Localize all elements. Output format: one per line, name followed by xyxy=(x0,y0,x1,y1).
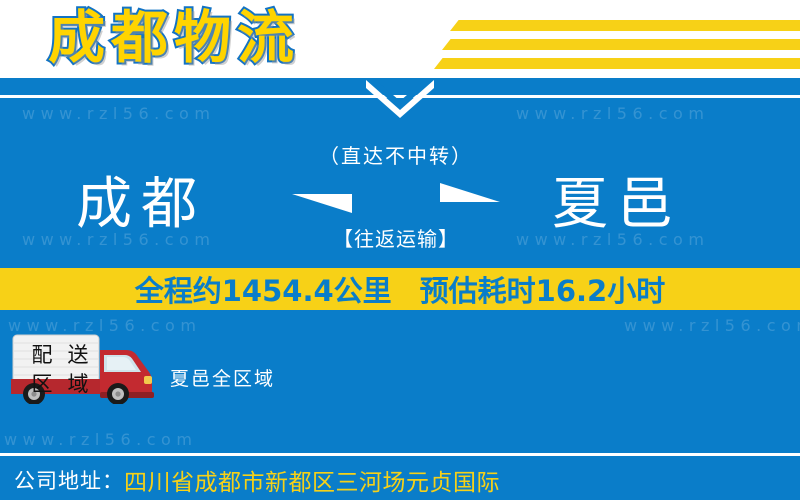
origin-city: 成都 xyxy=(76,173,206,237)
watermark: www.rzl56.com xyxy=(22,104,215,123)
chevron-down-icon xyxy=(364,80,436,126)
direct-service-label: （直达不中转） xyxy=(296,140,496,169)
delivery-truck-icon xyxy=(8,332,156,404)
page-title: 成都物流 xyxy=(48,2,300,74)
watermark: www.rzl56.com xyxy=(4,430,197,449)
decorative-stripe-3 xyxy=(434,58,800,69)
destination-city: 夏邑 xyxy=(552,173,682,237)
decorative-stripe-1 xyxy=(450,20,800,31)
address-label: 公司地址： xyxy=(14,465,124,495)
coverage-area-label: 夏邑全区域 xyxy=(170,364,275,391)
roundtrip-service-label: 【往返运输】 xyxy=(296,223,496,252)
distance-text: 全程约1454.4公里 xyxy=(135,268,392,310)
logistics-banner: 成都物流 www.rzl56.com www.rzl56.com www.rzl… xyxy=(0,0,800,500)
duration-text: 预估耗时16.2小时 xyxy=(420,268,666,310)
address-value: 四川省成都市新都区三河场元贞国际 xyxy=(124,463,500,497)
banner-body: www.rzl56.com www.rzl56.com www.rzl56.co… xyxy=(0,78,800,500)
decorative-stripe-2 xyxy=(442,39,800,50)
route-info-band: 全程约1454.4公里 预估耗时16.2小时 xyxy=(0,268,800,310)
divider-bottom xyxy=(0,453,800,456)
watermark: www.rzl56.com xyxy=(516,104,709,123)
banner-header: 成都物流 xyxy=(0,0,800,78)
watermark: www.rzl56.com xyxy=(624,316,800,335)
bidirectional-arrow-icon xyxy=(288,176,504,220)
company-address-bar: 公司地址： 四川省成都市新都区三河场元贞国际 xyxy=(0,459,800,500)
